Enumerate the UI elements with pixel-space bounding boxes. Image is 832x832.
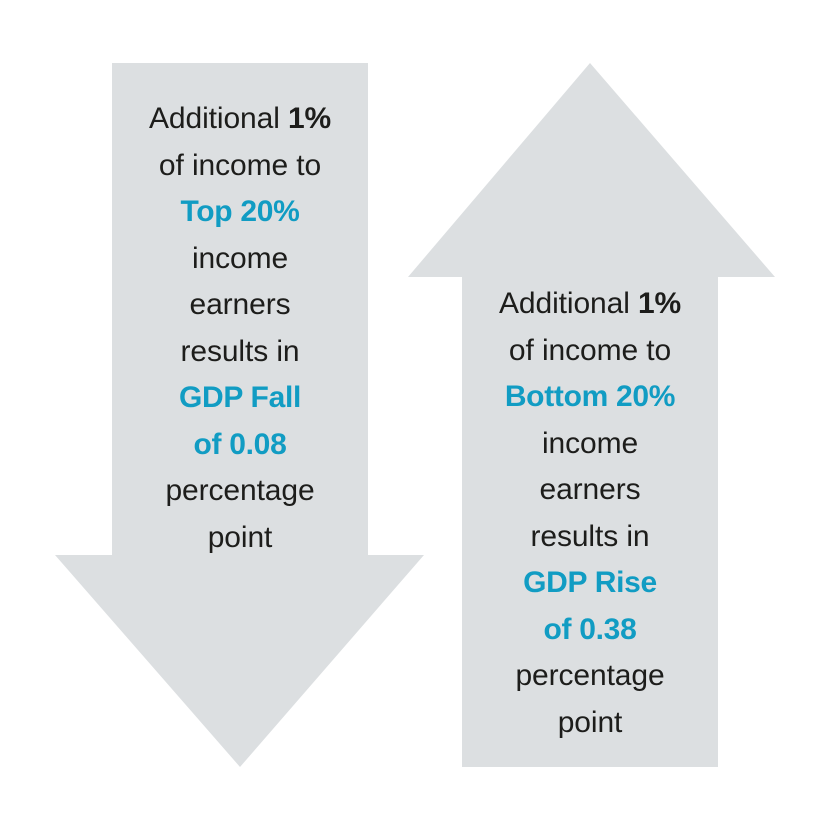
up-arrow-line-2: of income to <box>454 328 726 375</box>
down-arrow-line-1-prefix: Additional <box>149 102 288 135</box>
up-arrow-line-3: Bottom 20% <box>454 374 726 421</box>
down-arrow-line-9: percentage <box>104 468 376 515</box>
down-arrow-line-3: Top 20% <box>104 189 376 236</box>
down-arrow-line-10: point <box>104 515 376 562</box>
up-arrow-line-7: GDP Rise <box>454 560 726 607</box>
down-arrow-text-block: Additional 1% of income to Top 20% incom… <box>104 96 376 561</box>
down-arrow-line-1: Additional 1% <box>104 96 376 143</box>
up-arrow-line-6: results in <box>454 514 726 561</box>
up-arrow-line-1-emphasis: 1% <box>638 287 681 320</box>
down-arrow-line-6: results in <box>104 329 376 376</box>
up-arrow-line-1: Additional 1% <box>454 281 726 328</box>
down-arrow-line-7: GDP Fall <box>104 375 376 422</box>
up-arrow-text-block: Additional 1% of income to Bottom 20% in… <box>454 281 726 746</box>
up-arrow-line-4: income <box>454 421 726 468</box>
down-arrow-line-4: income <box>104 236 376 283</box>
down-arrow-line-2: of income to <box>104 143 376 190</box>
up-arrow-line-9: percentage <box>454 653 726 700</box>
down-arrow-line-8: of 0.08 <box>104 422 376 469</box>
up-arrow-line-1-prefix: Additional <box>499 287 638 320</box>
down-arrow-line-5: earners <box>104 282 376 329</box>
down-arrow-line-1-emphasis: 1% <box>288 102 331 135</box>
up-arrow-line-5: earners <box>454 467 726 514</box>
up-arrow-line-10: point <box>454 700 726 747</box>
up-arrow-line-8: of 0.38 <box>454 607 726 654</box>
infographic-canvas: Additional 1% of income to Top 20% incom… <box>0 0 832 832</box>
